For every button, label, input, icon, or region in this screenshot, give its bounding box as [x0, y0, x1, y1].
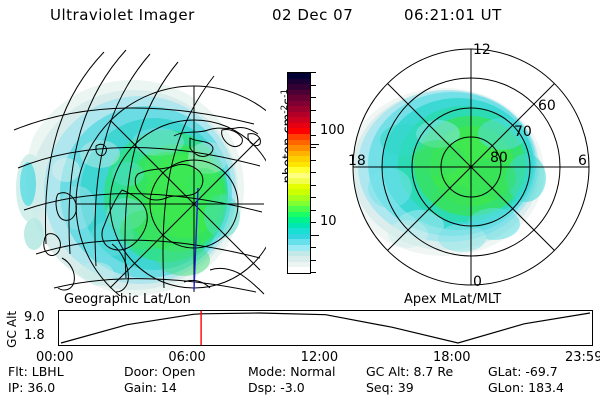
- colorbar-major-tick: [310, 235, 319, 236]
- mlat-label-80: 80: [490, 150, 508, 166]
- colorbar-major-tick: [310, 144, 319, 145]
- colorbar-tick: [310, 97, 316, 98]
- colorbar-tick: [310, 135, 316, 136]
- colorbar-tick: [310, 122, 316, 123]
- header-bar: Ultraviolet Imager 02 Dec 07 06:21:01 UT: [0, 6, 600, 30]
- colorbar-tick: [310, 222, 316, 223]
- status-field: IP: 36.0: [8, 380, 55, 395]
- geographic-plot-caption: Geographic Lat/Lon: [64, 292, 191, 307]
- status-field: Door: Open: [124, 364, 195, 379]
- aurora-limb-patch: [16, 154, 44, 250]
- colorbar-tick: [310, 85, 316, 86]
- mlt-label-0: 0: [473, 274, 482, 290]
- orbit-y-axis-label: Alt GC: [4, 310, 20, 350]
- mlat-label-70: 70: [514, 124, 532, 140]
- orbit-altitude-curve-svg: [59, 311, 592, 345]
- colorbar-tick: [310, 185, 316, 186]
- instrument-title: Ultraviolet Imager: [50, 6, 195, 24]
- status-bar: Flt: LBHLDoor: OpenMode: NormalGC Alt: 8…: [0, 364, 600, 398]
- colorbar-tick: [310, 260, 316, 261]
- mlt-label-6: 6: [578, 153, 587, 169]
- status-field: Seq: 39: [366, 380, 414, 395]
- colorbar-tick: [310, 172, 316, 173]
- colorbar-tick: [310, 197, 316, 198]
- orbit-xtick-label: 18:00: [433, 350, 470, 365]
- observation-date: 02 Dec 07: [272, 6, 353, 24]
- mlt-label-18: 18: [348, 153, 366, 169]
- geographic-plot-svg: [8, 38, 266, 296]
- colorbar-band: [288, 267, 310, 273]
- status-field: Flt: LBHL: [8, 364, 64, 379]
- colorbar-tick: [310, 272, 316, 273]
- apex-polar-grid: [353, 49, 589, 285]
- colorbar-tick: [310, 72, 316, 73]
- orbit-ytick-high: 9.0: [24, 310, 45, 325]
- orbit-plot-frame[interactable]: [58, 310, 593, 346]
- mlt-label-12: 12: [473, 42, 491, 58]
- colorbar-tick-label-10: 10: [320, 215, 337, 228]
- apex-polar-plot-svg: 12 6 0 18 60 70 80: [342, 38, 600, 296]
- colorbar-legend: photon cm-2s-1 100 10: [266, 58, 342, 293]
- status-field: GLon: 183.4: [488, 380, 564, 395]
- mlat-label-60: 60: [538, 98, 556, 114]
- colorbar-tick: [310, 210, 316, 211]
- orbit-ytick-low: 1.8: [24, 328, 45, 343]
- observation-time: 06:21:01 UT: [404, 6, 502, 24]
- geographic-plot[interactable]: [8, 38, 266, 296]
- orbit-altitude-strip[interactable]: Alt GC 9.0 1.8 00:0006:0012:0018:0023:59: [0, 306, 600, 356]
- colorbar-gradient: [288, 73, 310, 273]
- colorbar-tick: [310, 110, 316, 111]
- orbit-xtick-label: 00:00: [36, 350, 73, 365]
- orbit-xtick-label: 23:59: [565, 350, 600, 365]
- orbit-xtick-label: 12:00: [301, 350, 338, 365]
- apex-plot-caption: Apex MLat/MLT: [404, 292, 501, 307]
- status-field: GC Alt: 8.7 Re: [366, 364, 453, 379]
- aurora-emission-apex: [342, 80, 550, 256]
- status-row: IP: 36.0Gain: 14Dsp: -3.0Seq: 39GLon: 18…: [0, 380, 600, 396]
- orbit-altitude-curve: [61, 313, 590, 343]
- apex-polar-plot[interactable]: 12 6 0 18 60 70 80: [342, 38, 600, 296]
- colorbar-tick: [310, 247, 316, 248]
- colorbar-tick-marks: [310, 72, 320, 274]
- orbit-xtick-label: 06:00: [168, 350, 205, 365]
- status-field: Gain: 14: [124, 380, 177, 395]
- colorbar-swatch: [287, 72, 311, 274]
- status-field: GLat: -69.7: [488, 364, 558, 379]
- status-field: Mode: Normal: [248, 364, 335, 379]
- status-row: Flt: LBHLDoor: OpenMode: NormalGC Alt: 8…: [0, 364, 600, 380]
- colorbar-tick: [310, 160, 316, 161]
- status-field: Dsp: -3.0: [248, 380, 305, 395]
- colorbar-tick: [310, 147, 316, 148]
